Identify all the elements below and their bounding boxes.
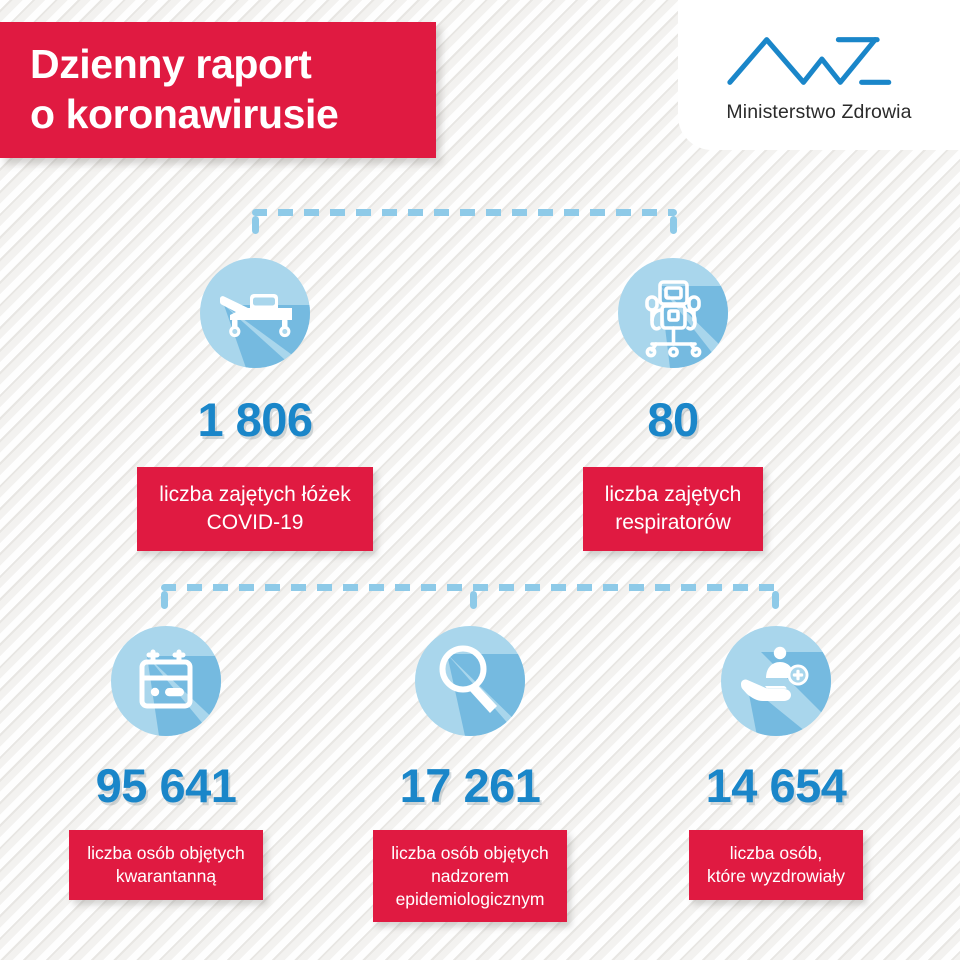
hospital-bed-glyph <box>200 258 310 368</box>
connector-line-row2 <box>161 584 779 591</box>
stat-label-line: liczba osób, <box>707 842 845 865</box>
magnifier-glyph <box>415 626 525 736</box>
stat-card-ventilators: 80 liczba zajętych respiratorów <box>553 258 793 551</box>
connector-drop-row1-right <box>670 216 677 234</box>
stat-value-beds: 1 806 <box>197 396 312 443</box>
stat-label-line: nadzorem <box>391 865 549 888</box>
stat-label-line: respiratorów <box>605 509 742 537</box>
connector-line-row1 <box>252 209 677 216</box>
stat-label-line: które wyzdrowiały <box>707 865 845 888</box>
stat-label-line: liczba osób objętych <box>391 842 549 865</box>
stat-label-ventilators: liczba zajętych respiratorów <box>583 467 764 551</box>
stat-label-line: kwarantanną <box>87 865 245 888</box>
stat-value-ventilators: 80 <box>647 396 698 443</box>
stat-value-quarantine: 95 641 <box>96 762 237 809</box>
stat-label-line: liczba zajętych <box>605 481 742 509</box>
title-line-2: o koronawirusie <box>30 90 412 140</box>
ministry-name: Ministerstwo Zdrowia <box>726 101 911 124</box>
calendar-glyph <box>111 626 221 736</box>
ventilator-glyph <box>618 258 728 368</box>
ministry-logo-panel: Ministerstwo Zdrowia <box>678 0 960 150</box>
mz-zigzag-logo-icon <box>721 30 917 92</box>
connector-drop-row2-left <box>161 591 168 609</box>
stat-label-line: liczba zajętych łóżek <box>159 481 350 509</box>
title-banner: Dzienny raport o koronawirusie <box>0 22 436 158</box>
stat-value-surveillance: 17 261 <box>400 762 541 809</box>
stat-label-recovered: liczba osób, które wyzdrowiały <box>689 830 863 900</box>
recovered-hand-glyph <box>721 626 831 736</box>
infographic-canvas: Dzienny raport o koronawirusie Ministers… <box>0 0 960 960</box>
connector-drop-row2-right <box>772 591 779 609</box>
hospital-bed-icon <box>200 258 310 368</box>
stat-label-line: liczba osób objętych <box>87 842 245 865</box>
stat-label-line: COVID-19 <box>159 509 350 537</box>
stat-label-beds: liczba zajętych łóżek COVID-19 <box>137 467 372 551</box>
calendar-icon <box>111 626 221 736</box>
connector-drop-row1-left <box>252 216 259 234</box>
stat-card-beds: 1 806 liczba zajętych łóżek COVID-19 <box>135 258 375 551</box>
stat-label-surveillance: liczba osób objętych nadzorem epidemiolo… <box>373 830 567 922</box>
magnifier-icon <box>415 626 525 736</box>
stat-label-quarantine: liczba osób objętych kwarantanną <box>69 830 263 900</box>
stat-card-surveillance: 17 261 liczba osób objętych nadzorem epi… <box>349 626 591 922</box>
stat-card-quarantine: 95 641 liczba osób objętych kwarantanną <box>45 626 287 900</box>
stat-value-recovered: 14 654 <box>706 762 847 809</box>
recovered-hand-icon <box>721 626 831 736</box>
stat-card-recovered: 14 654 liczba osób, które wyzdrowiały <box>655 626 897 900</box>
connector-drop-row2-center <box>470 591 477 609</box>
ventilator-icon <box>618 258 728 368</box>
stat-label-line: epidemiologicznym <box>391 888 549 911</box>
title-line-1: Dzienny raport <box>30 40 412 90</box>
